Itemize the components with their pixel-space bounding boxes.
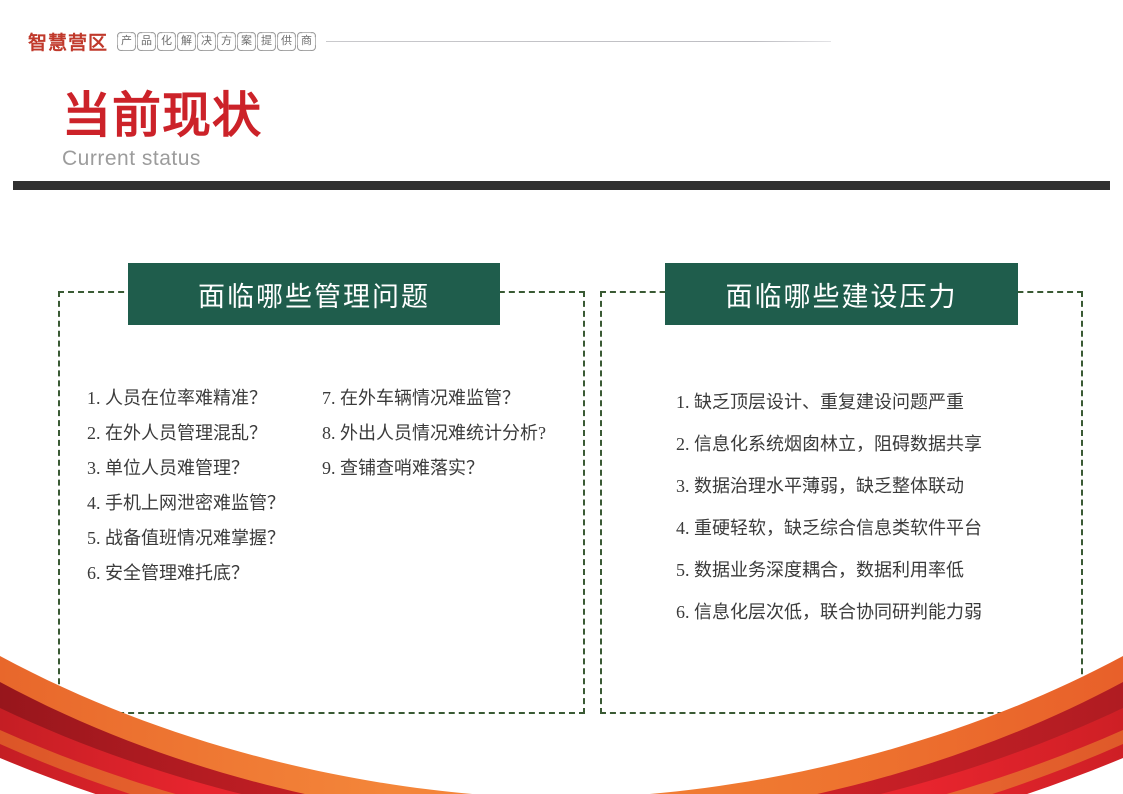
seal-char-4: 解 — [177, 32, 196, 51]
list-management-problems-column-1: 1. 人员在位率难精准？ 2. 在外人员管理混乱？ 3. 单位人员难管理？ 4.… — [87, 381, 285, 591]
list-item: 2. 信息化系统烟囱林立，阻碍数据共享 — [676, 423, 982, 465]
ribbon-layer-red — [0, 708, 1123, 794]
seal-char-2: 品 — [137, 32, 156, 51]
header-divider-line — [326, 41, 831, 42]
seal-char-6: 方 — [217, 32, 236, 51]
list-item-label: 战备值班情况难掌握？ — [105, 528, 285, 548]
list-item: 8. 外出人员情况难统计分析? — [322, 416, 546, 451]
list-item-label: 信息化层次低，联合协同研判能力弱 — [694, 602, 982, 622]
list-item-label: 人员在位率难精准？ — [105, 388, 267, 408]
list-item: 4. 重硬轻软，缺乏综合信息类软件平台 — [676, 507, 982, 549]
list-item-label: 数据治理水平薄弱，缺乏整体联动 — [694, 476, 964, 496]
list-construction-pressures: 1. 缺乏顶层设计、重复建设问题严重 2. 信息化系统烟囱林立，阻碍数据共享 3… — [676, 381, 982, 633]
list-item-label: 数据业务深度耦合，数据利用率低 — [694, 560, 964, 580]
list-item-label: 在外人员管理混乱？ — [105, 423, 267, 443]
page-title: 当前现状 — [62, 92, 262, 141]
list-item-number: 9. — [322, 458, 336, 478]
panel-heading-management-problems: 面临哪些管理问题 — [128, 263, 500, 325]
list-item: 2. 在外人员管理混乱？ — [87, 416, 285, 451]
list-item-number: 4. — [676, 518, 690, 538]
list-item-number: 1. — [676, 392, 690, 412]
list-item-number: 6. — [676, 602, 690, 622]
list-item-label: 单位人员难管理？ — [105, 458, 249, 478]
ribbon-layer-orange-highlight — [0, 730, 1123, 794]
seal-char-8: 提 — [257, 32, 276, 51]
list-item-label: 外出人员情况难统计分析? — [340, 423, 546, 443]
list-item: 4. 手机上网泄密难监管？ — [87, 486, 285, 521]
list-item-number: 8. — [322, 423, 336, 443]
list-item-label: 手机上网泄密难监管？ — [105, 493, 285, 513]
list-item-number: 2. — [87, 423, 101, 443]
list-item: 5. 数据业务深度耦合，数据利用率低 — [676, 549, 982, 591]
seal-char-7: 案 — [237, 32, 256, 51]
brand-header-bar: 智慧营区 产 品 化 解 决 方 案 提 供 商 — [0, 24, 1123, 58]
list-item: 3. 数据治理水平薄弱，缺乏整体联动 — [676, 465, 982, 507]
list-item-label: 信息化系统烟囱林立，阻碍数据共享 — [694, 434, 982, 454]
list-item: 6. 信息化层次低，联合协同研判能力弱 — [676, 591, 982, 633]
list-item-number: 7. — [322, 388, 336, 408]
list-item-label: 缺乏顶层设计、重复建设问题严重 — [694, 392, 964, 412]
list-item-label: 在外车辆情况难监管？ — [340, 388, 520, 408]
list-item: 9. 查铺查哨难落实？ — [322, 451, 546, 486]
list-item-number: 3. — [87, 458, 101, 478]
list-item: 5. 战备值班情况难掌握？ — [87, 521, 285, 556]
list-item-number: 4. — [87, 493, 101, 513]
brand-tagline-seals: 产 品 化 解 决 方 案 提 供 商 — [117, 32, 316, 51]
list-item: 6. 安全管理难托底？ — [87, 556, 285, 591]
list-item-label: 查铺查哨难落实？ — [340, 458, 484, 478]
list-item: 1. 人员在位率难精准？ — [87, 381, 285, 416]
seal-char-5: 决 — [197, 32, 216, 51]
list-item: 7. 在外车辆情况难监管？ — [322, 381, 546, 416]
seal-char-1: 产 — [117, 32, 136, 51]
ribbon-base-cutout — [0, 758, 1123, 794]
list-item: 3. 单位人员难管理？ — [87, 451, 285, 486]
list-item-number: 5. — [87, 528, 101, 548]
list-management-problems-column-2: 7. 在外车辆情况难监管？ 8. 外出人员情况难统计分析? 9. 查铺查哨难落实… — [322, 381, 546, 486]
title-underline-bar — [13, 181, 1110, 190]
list-item-number: 5. — [676, 560, 690, 580]
seal-char-9: 供 — [277, 32, 296, 51]
seal-char-3: 化 — [157, 32, 176, 51]
list-item-number: 2. — [676, 434, 690, 454]
list-item-number: 6. — [87, 563, 101, 583]
panel-heading-construction-pressures: 面临哪些建设压力 — [665, 263, 1018, 325]
page-subtitle: Current status — [62, 148, 201, 169]
list-item-label: 重硬轻软，缺乏综合信息类软件平台 — [694, 518, 982, 538]
list-item: 1. 缺乏顶层设计、重复建设问题严重 — [676, 381, 982, 423]
seal-char-10: 商 — [297, 32, 316, 51]
list-item-number: 1. — [87, 388, 101, 408]
list-item-number: 3. — [676, 476, 690, 496]
list-item-label: 安全管理难托底？ — [105, 563, 249, 583]
brand-name: 智慧营区 — [28, 28, 108, 55]
